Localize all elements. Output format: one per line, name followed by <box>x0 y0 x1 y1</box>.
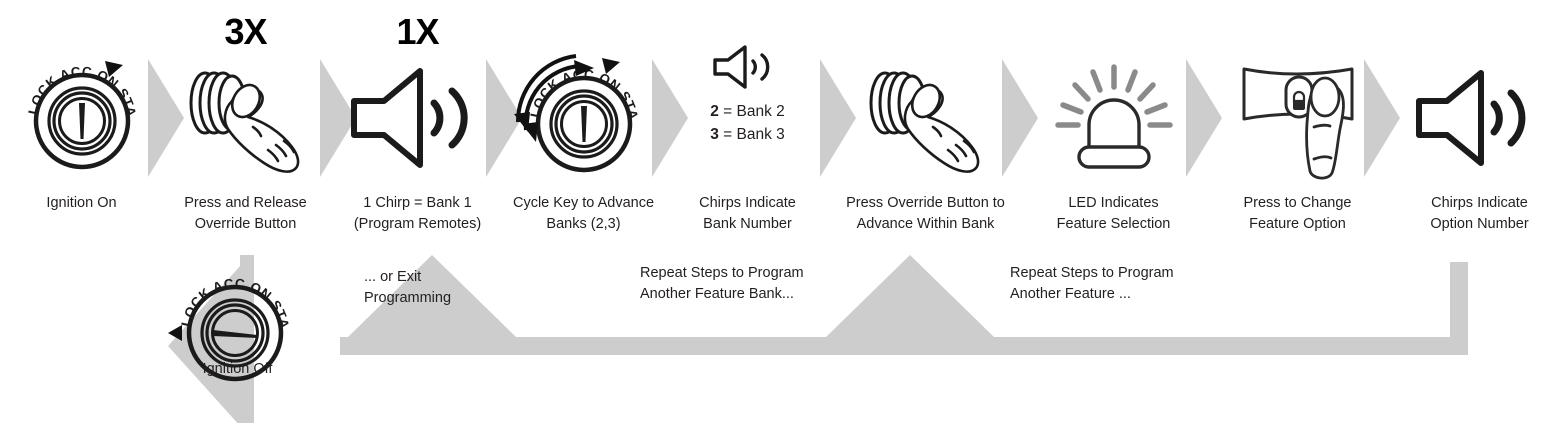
caption-line-2: Bank Number <box>654 214 841 235</box>
caption-line-1: 1 Chirp = Bank 1 <box>363 195 471 211</box>
svg-text:LOCK ACC ON START: LOCK ACC ON START <box>163 251 292 330</box>
step-caption: Chirps Indicate Option Number <box>1386 193 1568 235</box>
led-beacon-icon <box>1026 52 1201 184</box>
caption-line-1: Ignition On <box>46 195 116 211</box>
caption-line-2: Override Button <box>152 214 339 235</box>
caption-line-2: Feature Selection <box>1020 214 1207 235</box>
ignition-off-label: Ignition Off <box>150 361 325 377</box>
step-press-change-option: Press to Change Feature Option <box>1210 0 1385 245</box>
bank-legend-number: 2 <box>710 103 719 120</box>
exit-note-line-1: ... or Exit <box>364 267 451 288</box>
exit-programming-note: ... or Exit Programming <box>364 267 451 308</box>
caption-line-2: Banks (2,3) <box>490 214 677 235</box>
step-led-indicates-feature: LED Indicates Feature Selection <box>1026 0 1201 245</box>
finger-press-override-button-icon <box>838 52 1013 184</box>
bank-legend-row: 2 = Bank 2 <box>710 100 785 123</box>
repeat-bank-line-1: Repeat Steps to Program <box>640 263 804 284</box>
caption-line-2: (Program Remotes) <box>324 214 511 235</box>
speaker-chirp-icon <box>330 52 505 184</box>
repeat-feature-line-1: Repeat Steps to Program <box>1010 263 1174 284</box>
svg-text:LOCK ACC ON START: LOCK ACC ON START <box>13 43 138 118</box>
caption-line-1: Cycle Key to Advance <box>513 195 654 211</box>
ignition-key-cycle-icon: LOCK ACC ON START <box>496 52 671 184</box>
step-chirps-indicate-option: Chirps Indicate Option Number <box>1392 0 1567 245</box>
step-chirps-indicate-bank: 2 = Bank 2 3 = Bank 3 Chirps Indicate Ba… <box>660 0 835 245</box>
feedback-loop: LOCK ACC ON START Ignition Off ... or Ex… <box>0 245 1568 423</box>
step-caption: Press Override Button to Advance Within … <box>816 193 1035 235</box>
step-cycle-key-advance-banks: LOCK ACC ON START Cycle Key to Advance B… <box>496 0 671 245</box>
step-caption: Press and Release Override Button <box>152 193 339 235</box>
key-fob-press-icon <box>1210 52 1385 184</box>
bank-legend-number: 3 <box>710 126 719 143</box>
step-caption: 1 Chirp = Bank 1 (Program Remotes) <box>324 193 511 235</box>
caption-line-2: Feature Option <box>1204 214 1391 235</box>
repeat-feature-bank-note: Repeat Steps to Program Another Feature … <box>640 263 804 304</box>
step-caption: Cycle Key to Advance Banks (2,3) <box>490 193 677 235</box>
caption-line-1: Chirps Indicate <box>1431 195 1528 211</box>
repeat-feature-note: Repeat Steps to Program Another Feature … <box>1010 263 1174 304</box>
ignition-key-on-icon: LOCK ACC ON START <box>0 52 169 184</box>
bank-legend-row: 3 = Bank 3 <box>710 123 785 146</box>
programming-flow-diagram: LOCK ACC ON START Ignition On 3X <box>0 0 1568 423</box>
repeat-count-label: 3X <box>158 14 333 50</box>
speaker-chirp-icon <box>1392 52 1567 184</box>
repeat-count-label: 1X <box>330 14 505 50</box>
step-caption: Ignition On <box>0 193 175 214</box>
caption-line-2: Option Number <box>1386 214 1568 235</box>
step-caption: Press to Change Feature Option <box>1204 193 1391 235</box>
bank-legend-text: = Bank 3 <box>723 126 785 143</box>
finger-press-override-button-icon <box>158 52 333 184</box>
caption-line-1: Chirps Indicate <box>699 195 796 211</box>
exit-note-line-2: Programming <box>364 288 451 309</box>
bank-chirp-group: 2 = Bank 2 3 = Bank 3 <box>660 44 835 184</box>
step-press-release-override: 3X <box>158 0 333 245</box>
step-sequence: LOCK ACC ON START Ignition On 3X <box>0 0 1568 245</box>
caption-line-1: LED Indicates <box>1068 195 1158 211</box>
caption-line-1: Press and Release <box>184 195 307 211</box>
step-caption: Chirps Indicate Bank Number <box>654 193 841 235</box>
step-caption: LED Indicates Feature Selection <box>1020 193 1207 235</box>
caption-line-1: Press Override Button to <box>846 195 1005 211</box>
repeat-feature-line-2: Another Feature ... <box>1010 284 1174 305</box>
step-one-chirp-bank-one: 1X 1 Chirp = Bank 1 (Program Remotes) <box>330 0 505 245</box>
bank-number-legend: 2 = Bank 2 3 = Bank 3 <box>710 100 785 147</box>
step-ignition-on: LOCK ACC ON START Ignition On <box>0 0 169 245</box>
bank-legend-text: = Bank 2 <box>723 103 785 120</box>
step-press-override-advance: Press Override Button to Advance Within … <box>838 0 1013 245</box>
repeat-bank-line-2: Another Feature Bank... <box>640 284 804 305</box>
caption-line-1: Press to Change <box>1243 195 1351 211</box>
speaker-small-chirp-icon <box>712 44 784 90</box>
caption-line-2: Advance Within Bank <box>816 214 1035 235</box>
